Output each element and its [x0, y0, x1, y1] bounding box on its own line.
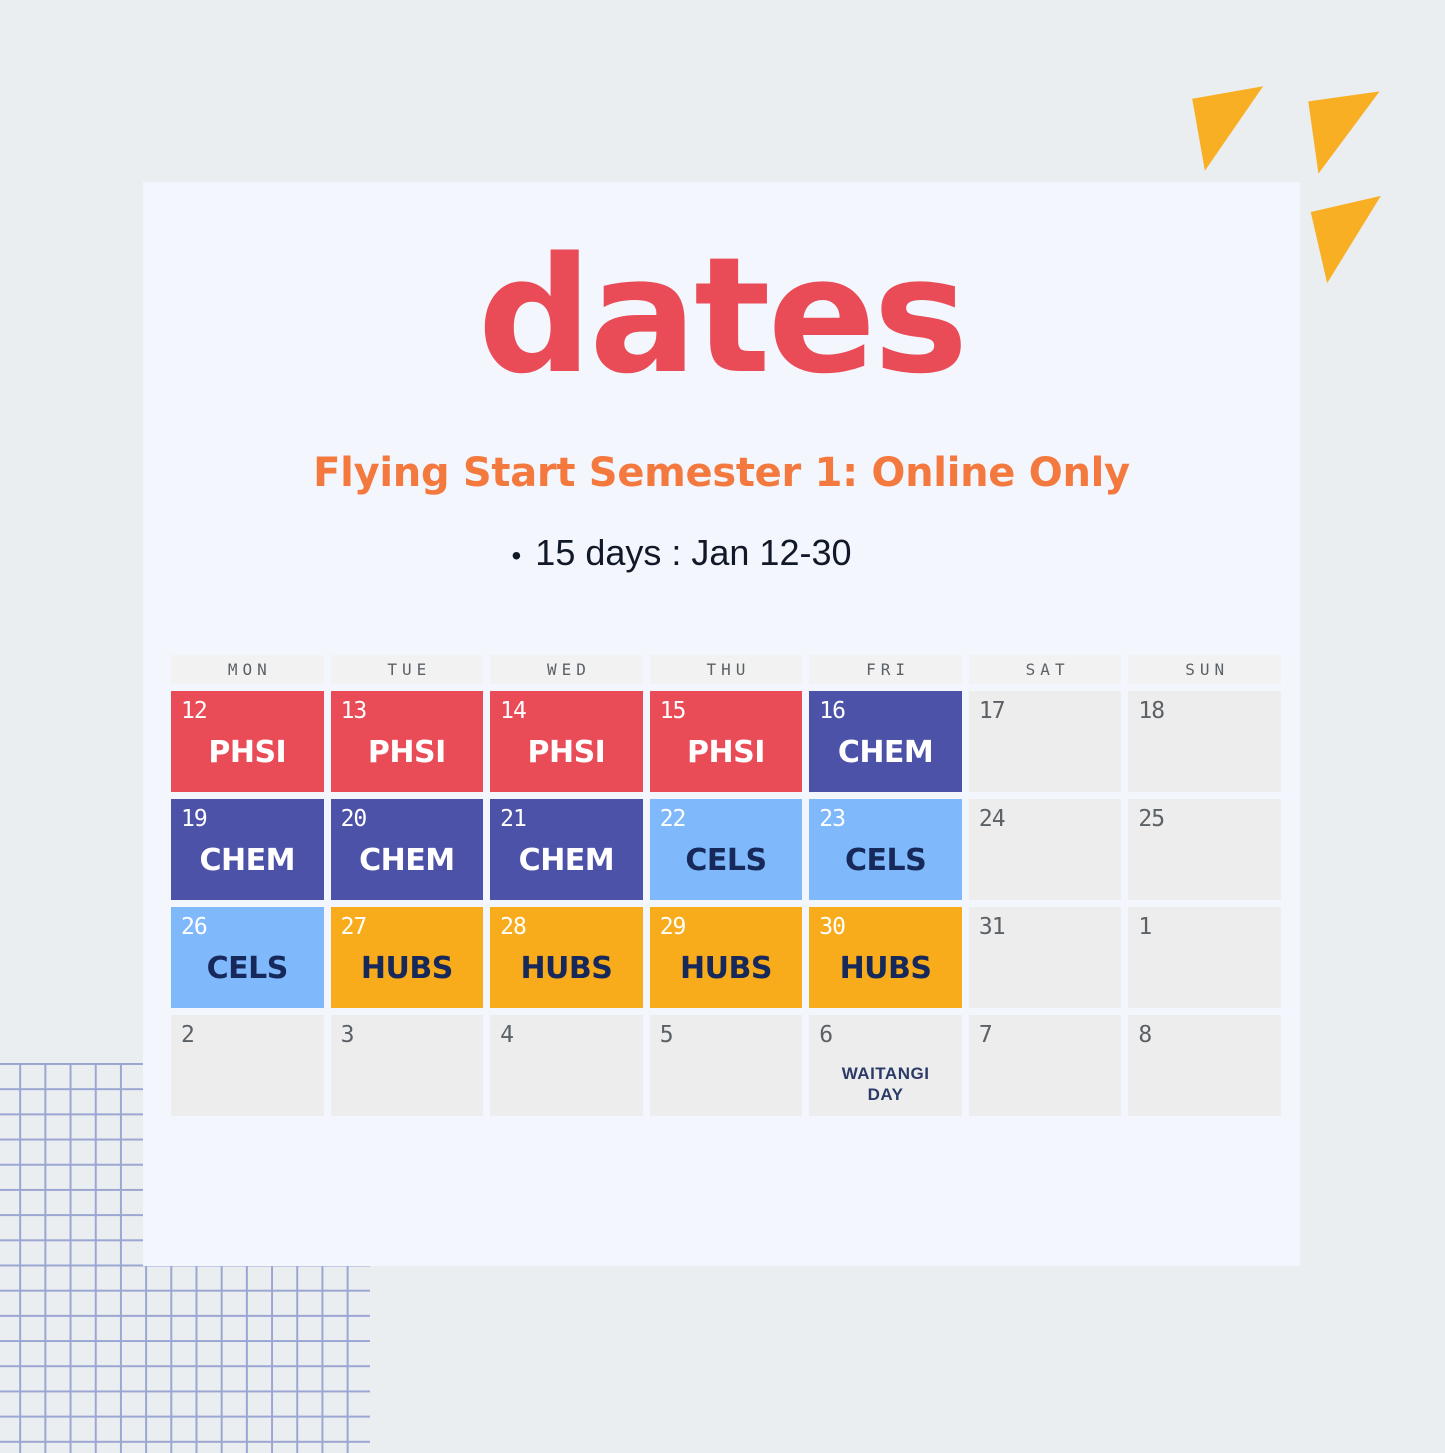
calendar-date-number: 21	[500, 806, 526, 832]
calendar-date-number: 18	[1138, 698, 1164, 724]
calendar-date-number: 1	[1138, 914, 1151, 940]
calendar-date-number: 14	[500, 698, 526, 724]
calendar-day-cell[interactable]: 6WAITANGIDAY	[809, 1015, 962, 1116]
calendar-weeks: 12PHSI13PHSI14PHSI15PHSI16CHEM171819CHEM…	[171, 691, 1281, 1116]
calendar-week-row: 23456WAITANGIDAY78	[171, 1015, 1281, 1116]
calendar-day-cell[interactable]: 2	[171, 1015, 324, 1116]
calendar-event-label: CHEM	[490, 843, 643, 878]
calendar-week-row: 26CELS27HUBS28HUBS29HUBS30HUBS311	[171, 907, 1281, 1008]
calendar-event-label: PHSI	[331, 735, 484, 770]
calendar-day-cell[interactable]: 29HUBS	[650, 907, 803, 1008]
calendar-day-cell[interactable]: 22CELS	[650, 799, 803, 900]
calendar-event-label: PHSI	[650, 735, 803, 770]
calendar-event-label: HUBS	[331, 951, 484, 986]
calendar-day-cell[interactable]: 7	[969, 1015, 1122, 1116]
calendar-day-cell[interactable]: 20CHEM	[331, 799, 484, 900]
calendar-day-header-tue: TUE	[331, 655, 484, 684]
calendar-date-number: 22	[660, 806, 686, 832]
calendar-day-cell[interactable]: 21CHEM	[490, 799, 643, 900]
triangle-decoration-icon	[1308, 91, 1389, 173]
calendar-day-cell[interactable]: 18	[1128, 691, 1281, 792]
calendar-event-label: HUBS	[490, 951, 643, 986]
calendar-day-header-sun: SUN	[1128, 655, 1281, 684]
calendar-date-number: 2	[181, 1022, 194, 1048]
calendar-date-number: 16	[819, 698, 845, 724]
calendar-event-label: CELS	[809, 843, 962, 878]
calendar-day-header-fri: FRI	[809, 655, 962, 684]
calendar-day-cell[interactable]: 1	[1128, 907, 1281, 1008]
calendar-date-number: 24	[979, 806, 1005, 832]
calendar-day-cell[interactable]: 16CHEM	[809, 691, 962, 792]
bullet-list-item: • 15 days : Jan 12-30	[143, 532, 1300, 574]
calendar-date-number: 26	[181, 914, 207, 940]
content-card: dates Flying Start Semester 1: Online On…	[143, 182, 1300, 1266]
calendar-day-cell[interactable]: 15PHSI	[650, 691, 803, 792]
calendar-date-number: 25	[1138, 806, 1164, 832]
calendar-date-number: 27	[341, 914, 367, 940]
calendar-day-header-sat: SAT	[969, 655, 1122, 684]
page-title: dates	[143, 182, 1300, 388]
calendar-date-number: 31	[979, 914, 1005, 940]
calendar-day-header-mon: MON	[171, 655, 324, 684]
calendar-day-cell[interactable]: 14PHSI	[490, 691, 643, 792]
calendar-date-number: 13	[341, 698, 367, 724]
calendar-day-cell[interactable]: 8	[1128, 1015, 1281, 1116]
calendar-day-cell[interactable]: 25	[1128, 799, 1281, 900]
calendar-date-number: 19	[181, 806, 207, 832]
calendar-day-cell[interactable]: 5	[650, 1015, 803, 1116]
calendar-event-label: CHEM	[809, 735, 962, 770]
calendar-day-header-thu: THU	[650, 655, 803, 684]
calendar-day-cell[interactable]: 26CELS	[171, 907, 324, 1008]
calendar-day-cell[interactable]: 24	[969, 799, 1122, 900]
calendar-day-header-row: MONTUEWEDTHUFRISATSUN	[171, 655, 1281, 684]
calendar-day-cell[interactable]: 3	[331, 1015, 484, 1116]
calendar-date-number: 17	[979, 698, 1005, 724]
triangle-decoration-icon	[1311, 196, 1398, 283]
calendar-day-header-wed: WED	[490, 655, 643, 684]
calendar-event-label: CELS	[650, 843, 803, 878]
calendar-event-label: CHEM	[171, 843, 324, 878]
calendar-day-cell[interactable]: 30HUBS	[809, 907, 962, 1008]
calendar-day-cell[interactable]: 31	[969, 907, 1122, 1008]
calendar-date-number: 20	[341, 806, 367, 832]
calendar-day-cell[interactable]: 12PHSI	[171, 691, 324, 792]
calendar-event-label: HUBS	[650, 951, 803, 986]
calendar-date-number: 12	[181, 698, 207, 724]
bullet-point-icon: •	[511, 542, 521, 570]
bullet-text: 15 days : Jan 12-30	[535, 532, 851, 574]
calendar-day-cell[interactable]: 27HUBS	[331, 907, 484, 1008]
calendar-day-cell[interactable]: 28HUBS	[490, 907, 643, 1008]
calendar-event-label: WAITANGIDAY	[809, 1063, 962, 1106]
calendar-date-number: 28	[500, 914, 526, 940]
calendar-event-label: PHSI	[171, 735, 324, 770]
calendar-week-row: 12PHSI13PHSI14PHSI15PHSI16CHEM1718	[171, 691, 1281, 792]
calendar-date-number: 23	[819, 806, 845, 832]
calendar-event-label: CELS	[171, 951, 324, 986]
calendar-day-cell[interactable]: 4	[490, 1015, 643, 1116]
calendar-grid: MONTUEWEDTHUFRISATSUN 12PHSI13PHSI14PHSI…	[171, 655, 1281, 1123]
calendar-date-number: 6	[819, 1022, 832, 1048]
calendar-date-number: 29	[660, 914, 686, 940]
calendar-date-number: 30	[819, 914, 845, 940]
calendar-date-number: 5	[660, 1022, 673, 1048]
calendar-date-number: 8	[1138, 1022, 1151, 1048]
calendar-day-cell[interactable]: 17	[969, 691, 1122, 792]
calendar-day-cell[interactable]: 23CELS	[809, 799, 962, 900]
calendar-event-label: HUBS	[809, 951, 962, 986]
triangle-decoration-icon	[1192, 86, 1276, 170]
calendar-date-number: 3	[341, 1022, 354, 1048]
calendar-week-row: 19CHEM20CHEM21CHEM22CELS23CELS2425	[171, 799, 1281, 900]
calendar-date-number: 15	[660, 698, 686, 724]
calendar-day-cell[interactable]: 13PHSI	[331, 691, 484, 792]
calendar-day-cell[interactable]: 19CHEM	[171, 799, 324, 900]
calendar-event-label: CHEM	[331, 843, 484, 878]
calendar-date-number: 7	[979, 1022, 992, 1048]
calendar-event-label: PHSI	[490, 735, 643, 770]
calendar-date-number: 4	[500, 1022, 513, 1048]
